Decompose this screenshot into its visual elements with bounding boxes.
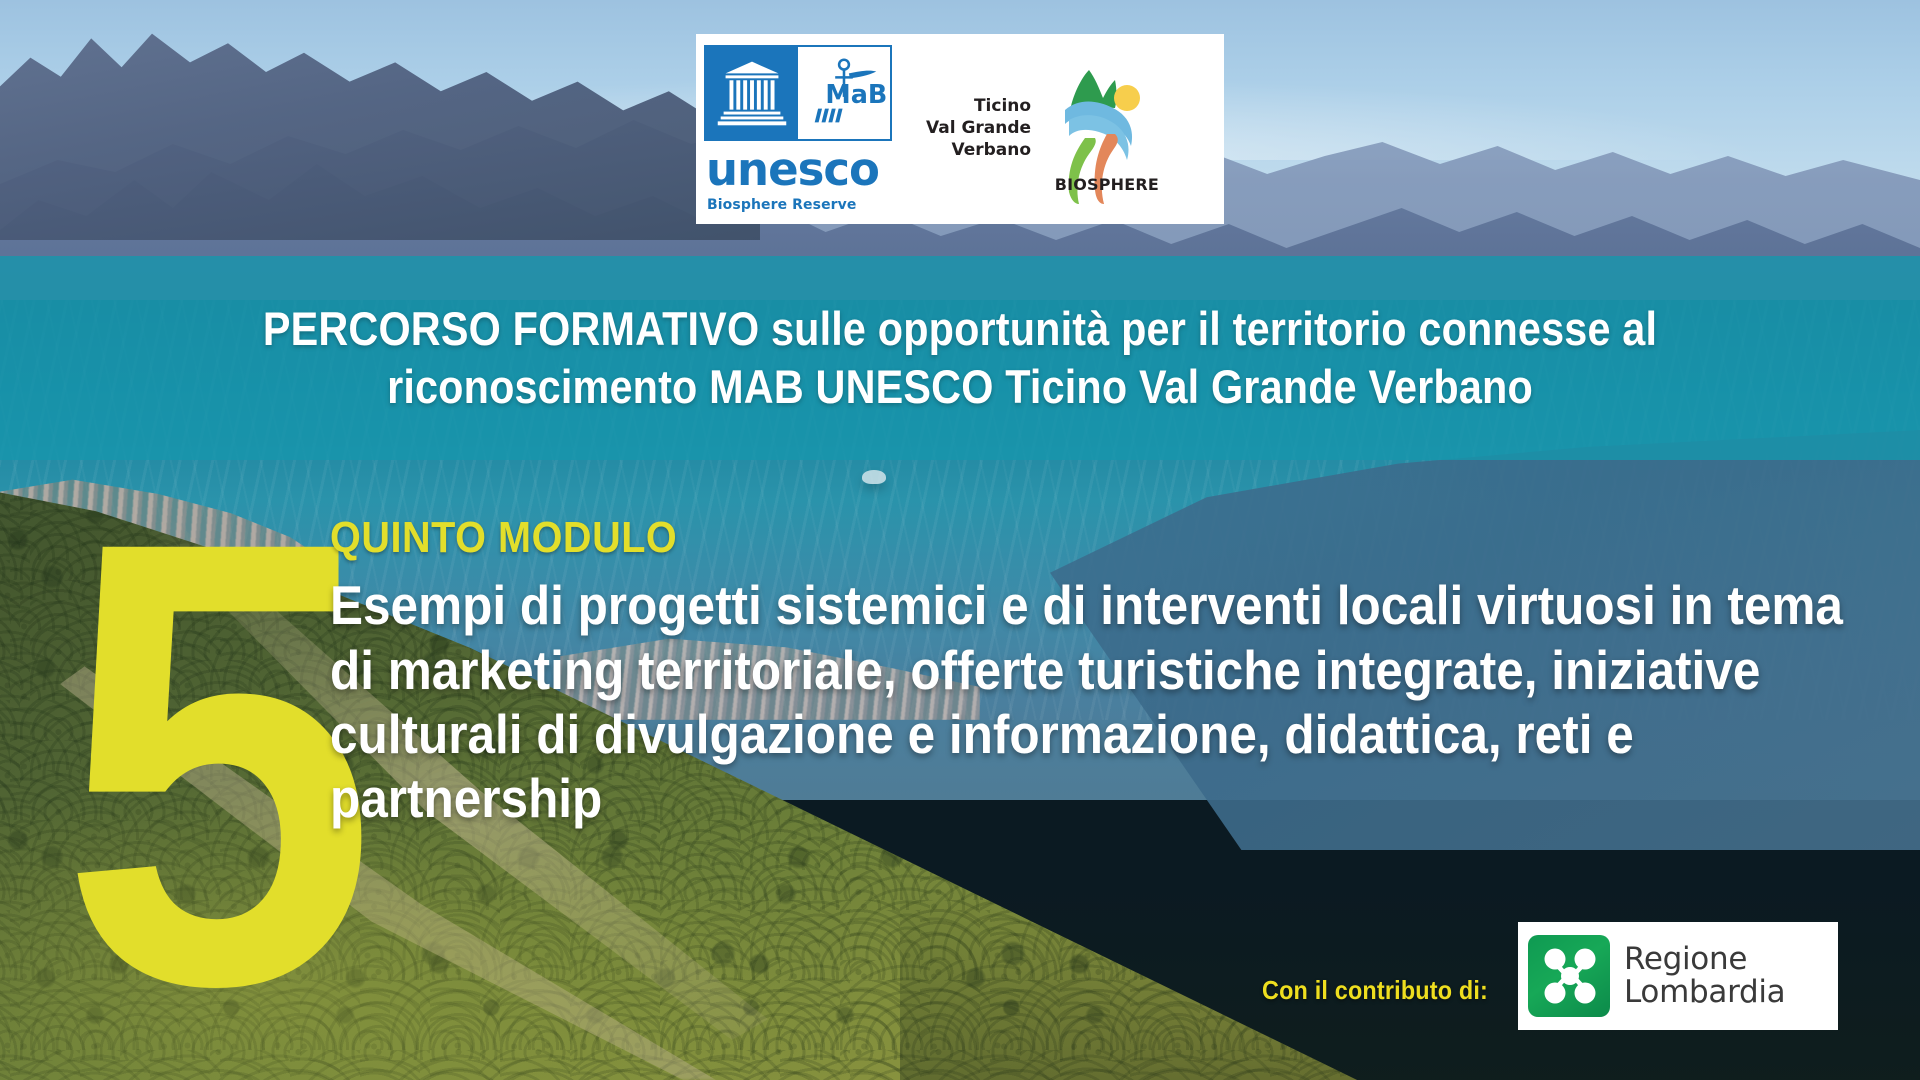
tvg-line-1: Ticino [926, 96, 1031, 118]
unesco-subtitle: Biosphere Reserve [707, 197, 857, 213]
lombardy-rose-svg [1528, 935, 1610, 1017]
regione-lombardia-logo: Regione Lombardia [1518, 922, 1838, 1030]
tvg-wordmark: Ticino Val Grande Verbano [926, 96, 1031, 161]
regione-lombardia-rose-icon [1528, 935, 1610, 1017]
mab-icon-svg: MaB [798, 47, 890, 139]
unesco-mab-emblem: MaB [704, 45, 892, 141]
sponsor-name-line-1: Regione [1624, 943, 1785, 976]
biosphere-figure-icon: BIOSPHERE [1035, 54, 1155, 204]
boat [862, 470, 886, 484]
module-text-block: QUINTO MODULO Esempi di progetti sistemi… [330, 515, 1870, 831]
ticino-valgrande-verbano-logo: Ticino Val Grande Verbano [926, 54, 1216, 204]
tvg-line-3: Verbano [926, 140, 1031, 162]
biosphere-label: BIOSPHERE [1055, 175, 1159, 194]
slide-canvas: MaB unesco Biosphere Reserve Ticino Val … [0, 0, 1920, 1080]
unesco-temple-icon [706, 47, 798, 139]
sponsor-name-line-2: Lombardia [1624, 976, 1785, 1009]
module-title: Esempi di progetti sistemici e di interv… [330, 573, 1860, 830]
logo-panel: MaB unesco Biosphere Reserve Ticino Val … [696, 34, 1224, 224]
unesco-wordmark: unesco [706, 147, 879, 192]
regione-lombardia-wordmark: Regione Lombardia [1624, 943, 1785, 1009]
svg-text:MaB: MaB [825, 79, 887, 109]
tvg-line-2: Val Grande [926, 118, 1031, 140]
module-kicker: QUINTO MODULO [330, 515, 1716, 561]
module-number: 5 [60, 478, 262, 1049]
course-title: PERCORSO FORMATIVO sulle opportunità per… [186, 300, 1735, 417]
credit-label: Con il contributo di: [1262, 975, 1488, 1006]
mab-icon: MaB [798, 47, 890, 139]
unesco-logo: MaB unesco Biosphere Reserve [704, 45, 904, 213]
temple-icon-svg [706, 47, 798, 139]
